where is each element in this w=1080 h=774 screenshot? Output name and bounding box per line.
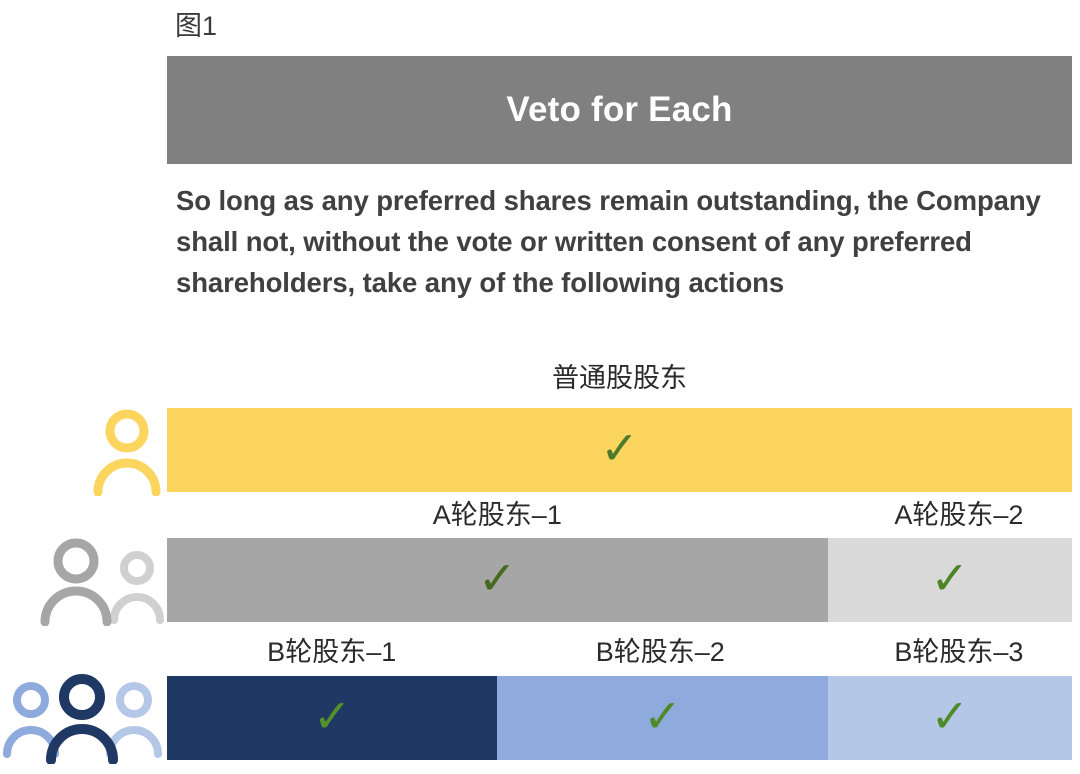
caption-strip-common: 普通股股东 [167, 358, 1072, 398]
body-paragraph: So long as any preferred shares remain o… [176, 180, 1056, 303]
figure-label: 图1 [175, 12, 217, 42]
segment-series-b-3[interactable]: ✓ [828, 676, 1072, 760]
header-band: Veto for Each [167, 56, 1072, 164]
segment-series-a-1[interactable]: ✓ [167, 538, 828, 622]
bar-row-series-a: ✓ ✓ [167, 538, 1072, 622]
caption-strip-series-a: A轮股东–1 A轮股东–2 [167, 495, 1072, 535]
slide-canvas: 图1 Veto for Each So long as any preferre… [0, 0, 1080, 774]
caption-common: 普通股股东 [552, 358, 687, 398]
two-people-icon [32, 534, 166, 626]
three-people-icon [2, 670, 166, 764]
caption-series-b-2: B轮股东–2 [596, 632, 725, 672]
check-icon: ✓ [931, 555, 970, 601]
caption-series-a-2: A轮股东–2 [894, 495, 1023, 535]
caption-series-b-3: B轮股东–3 [894, 632, 1023, 672]
caption-series-a-1: A轮股东–1 [433, 495, 562, 535]
segment-series-a-2[interactable]: ✓ [828, 538, 1072, 622]
bar-row-series-b: ✓ ✓ ✓ [167, 676, 1072, 760]
bar-row-common: ✓ [167, 408, 1072, 492]
header-title: Veto for Each [506, 90, 732, 130]
segment-series-b-1[interactable]: ✓ [167, 676, 497, 760]
segment-series-b-2[interactable]: ✓ [497, 676, 827, 760]
caption-series-b-1: B轮股东–1 [267, 632, 396, 672]
check-icon: ✓ [931, 693, 970, 739]
check-icon: ✓ [600, 425, 639, 471]
check-icon: ✓ [313, 693, 352, 739]
caption-strip-series-b: B轮股东–1 B轮股东–2 B轮股东–3 [167, 632, 1072, 672]
check-icon: ✓ [643, 693, 682, 739]
one-person-icon [88, 404, 166, 496]
segment-common-1[interactable]: ✓ [167, 408, 1072, 492]
check-icon: ✓ [478, 555, 517, 601]
